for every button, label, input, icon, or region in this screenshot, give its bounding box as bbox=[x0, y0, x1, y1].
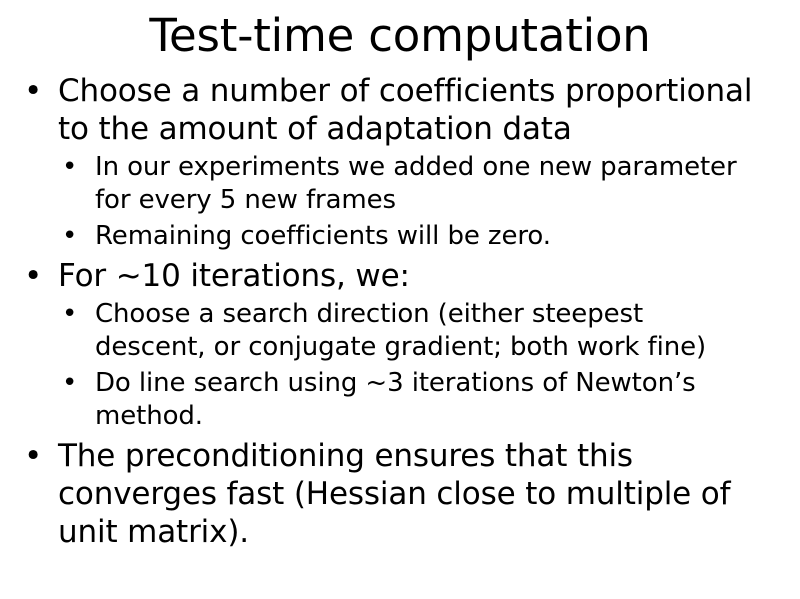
bullet-item-level2: • Choose a search direction (either stee… bbox=[0, 298, 800, 364]
bullet-text: Choose a search direction (either steepe… bbox=[95, 298, 760, 364]
bullet-item-level1: • The preconditioning ensures that this … bbox=[0, 437, 800, 551]
bullet-item-level2: • Do line search using ~3 iterations of … bbox=[0, 367, 800, 433]
slide-body-bullet-list: • Choose a number of coefficients propor… bbox=[0, 72, 800, 552]
bullet-text: In our experiments we added one new para… bbox=[95, 151, 760, 217]
bullet-text: Choose a number of coefficients proporti… bbox=[58, 72, 778, 148]
bullet-item-level1: • For ~10 iterations, we: bbox=[0, 257, 800, 295]
bullet-dot-icon: • bbox=[60, 151, 95, 184]
bullet-item-level1: • Choose a number of coefficients propor… bbox=[0, 72, 800, 148]
bullet-item-level2: • In our experiments we added one new pa… bbox=[0, 151, 800, 217]
bullet-dot-icon: • bbox=[60, 220, 95, 253]
presentation-slide: Test-time computation • Choose a number … bbox=[0, 0, 800, 599]
bullet-text: For ~10 iterations, we: bbox=[58, 257, 778, 295]
bullet-dot-icon: • bbox=[20, 437, 58, 475]
bullet-dot-icon: • bbox=[60, 298, 95, 331]
bullet-dot-icon: • bbox=[60, 367, 95, 400]
bullet-text: Do line search using ~3 iterations of Ne… bbox=[95, 367, 760, 433]
bullet-text: The preconditioning ensures that this co… bbox=[58, 437, 778, 551]
slide-title: Test-time computation bbox=[0, 8, 800, 64]
bullet-dot-icon: • bbox=[20, 72, 58, 110]
bullet-dot-icon: • bbox=[20, 257, 58, 295]
bullet-text: Remaining coefficients will be zero. bbox=[95, 220, 760, 253]
bullet-item-level2: • Remaining coefficients will be zero. bbox=[0, 220, 800, 253]
